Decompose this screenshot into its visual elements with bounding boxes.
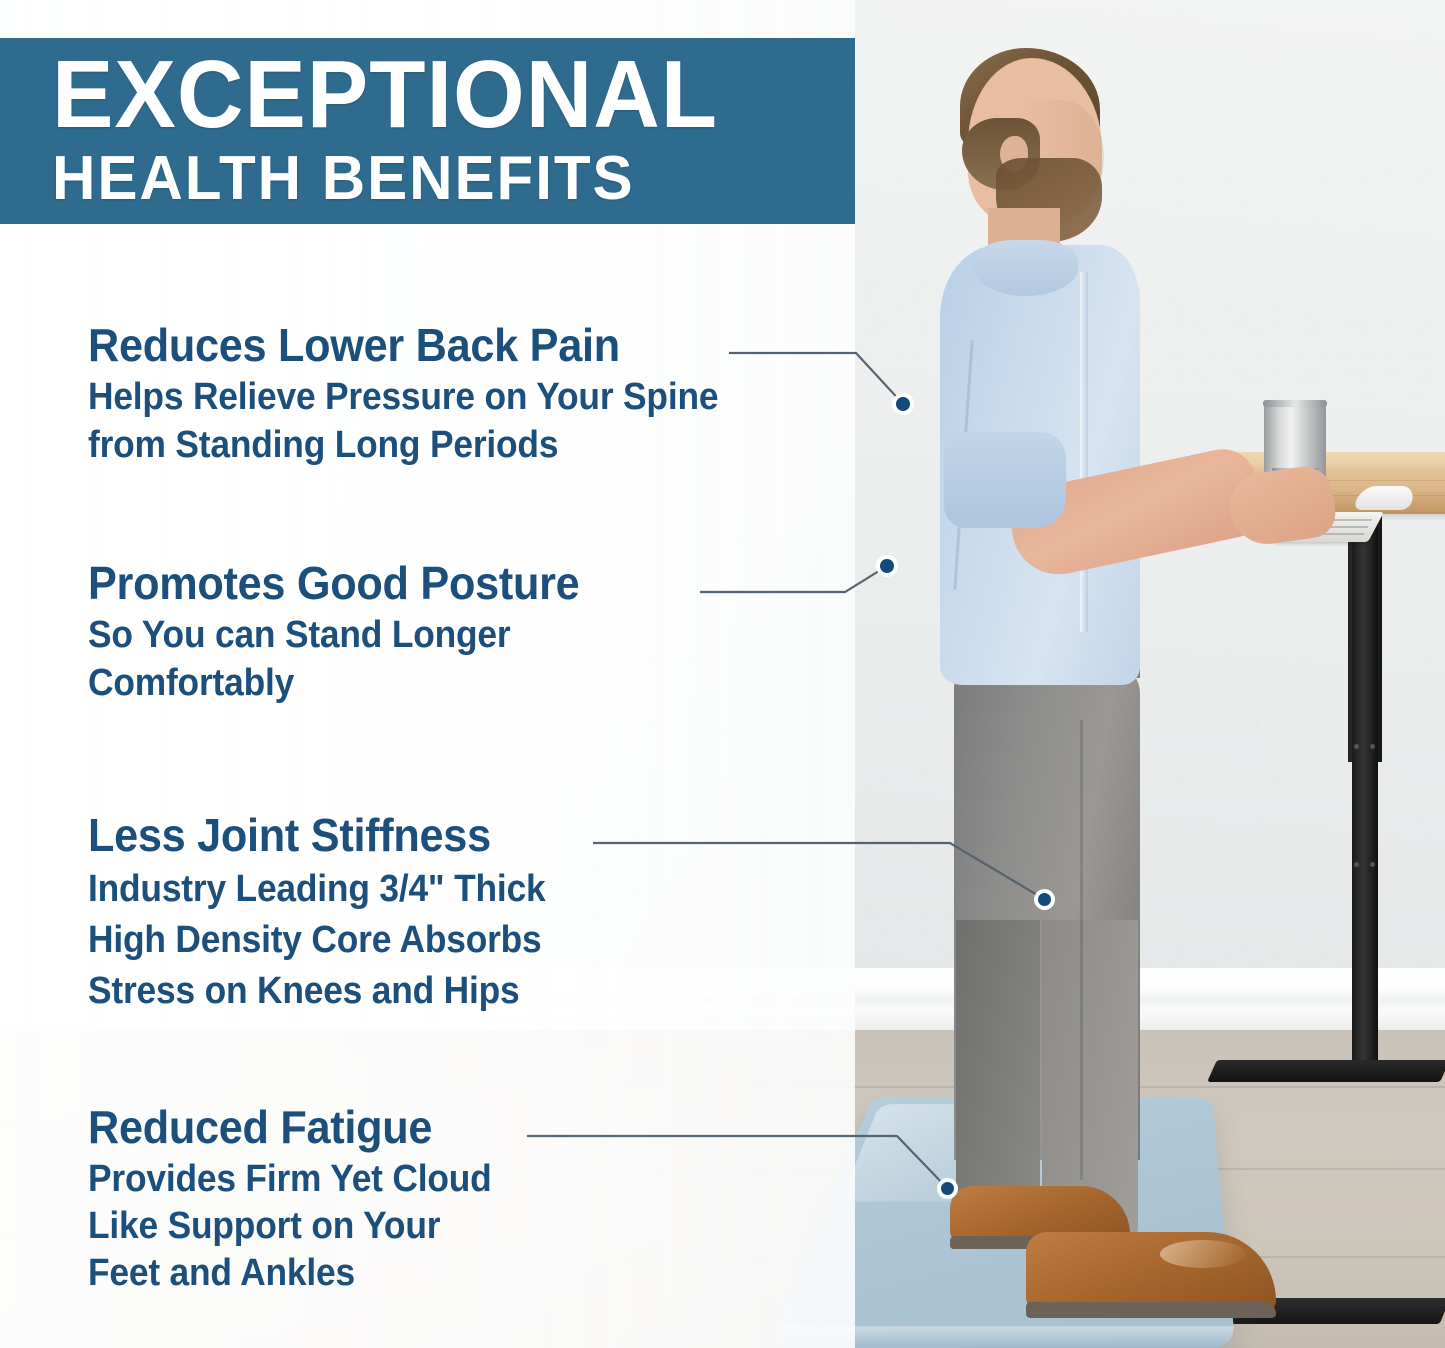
desk-leg-bolt [1370,862,1375,867]
desk-leg-bolt [1354,744,1359,749]
benefit-block-4: Reduced Fatigue Provides Firm Yet Cloud … [88,1104,522,1297]
callout-dot-3 [1034,889,1055,910]
benefit-description: Provides Firm Yet Cloud Like Support on … [88,1156,492,1297]
trouser-crease [1080,720,1083,1180]
benefit-block-2: Promotes Good Posture So You can Stand L… [88,560,611,708]
callout-dot-1-core [896,397,910,411]
benefit-title: Reduced Fatigue [88,1104,496,1152]
benefit-description: Helps Relieve Pressure on Your Spine fro… [88,374,718,470]
standing-man [930,40,1260,1320]
shoe-highlight [1160,1240,1246,1268]
callout-dot-4 [937,1178,958,1199]
benefit-description-line: So You can Stand Longer [88,612,574,660]
benefit-description-line: Like Support on Your [88,1203,492,1250]
benefit-description-line: Helps Relieve Pressure on Your Spine [88,374,718,422]
desk-leg-bolt [1354,862,1359,867]
benefit-block-3: Less Joint Stiffness Industry Leading 3/… [88,812,580,1018]
benefit-description-line: from Standing Long Periods [88,422,718,470]
benefit-description: So You can Stand Longer Comfortably [88,612,574,708]
benefit-title: Reduces Lower Back Pain [88,322,725,370]
banner-title-line2: HEALTH BENEFITS [52,146,831,211]
header-banner: EXCEPTIONAL HEALTH BENEFITS [0,38,855,224]
callout-dot-1 [892,393,914,415]
benefit-block-1: Reduces Lower Back Pain Helps Relieve Pr… [88,322,766,470]
desk-leg-bolt [1370,744,1375,749]
benefit-description-line: Feet and Ankles [88,1250,492,1297]
callout-dot-4-core [941,1182,954,1195]
benefit-description-line: Industry Leading 3/4" Thick [88,864,546,915]
benefit-description: Industry Leading 3/4" Thick High Density… [88,864,546,1018]
callout-dot-2-core [880,559,894,573]
callout-dot-3-core [1038,893,1051,906]
desk-leg [1352,512,1378,1072]
shirt-collar [974,240,1078,296]
shirt-sleeve [944,432,1066,528]
product-infographic: EXCEPTIONAL HEALTH BENEFITS Reduces Lowe… [0,0,1445,1348]
callout-dot-2 [876,555,898,577]
benefit-title: Promotes Good Posture [88,560,579,608]
trouser-leg-back [956,920,1040,1220]
shoe-sole-front [1026,1302,1276,1318]
benefit-description-line: Stress on Knees and Hips [88,966,546,1017]
banner-title-line1: EXCEPTIONAL [52,51,823,139]
benefit-description-line: Comfortably [88,660,574,708]
dress-shoe-front [1026,1232,1276,1312]
benefit-description-line: High Density Core Absorbs [88,915,546,966]
tumbler-lip [1263,400,1327,407]
benefit-description-line: Provides Firm Yet Cloud [88,1156,492,1203]
benefit-title: Less Joint Stiffness [88,812,550,860]
shirt-placket [1080,272,1088,632]
